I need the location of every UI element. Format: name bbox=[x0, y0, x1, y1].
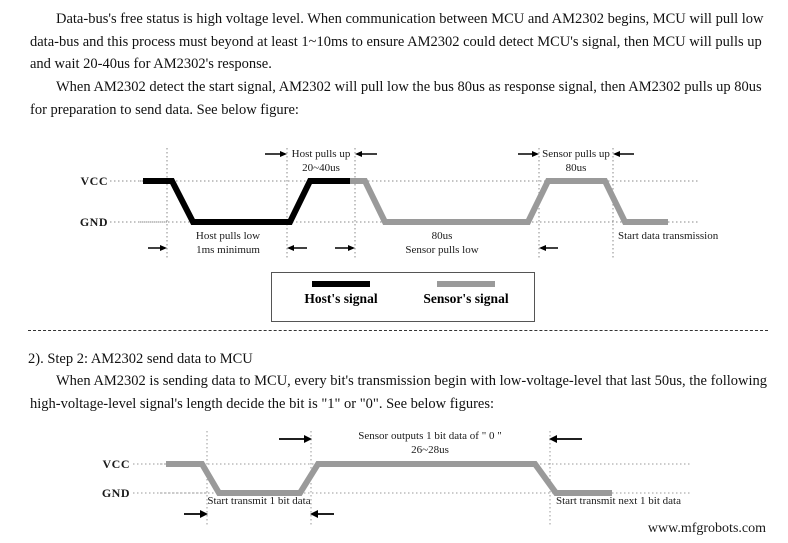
sensor-pulls-low-line2: Sensor pulls low bbox=[405, 244, 478, 256]
site-watermark: www.mfgrobots.com bbox=[648, 521, 766, 537]
paragraph-intro-text: Data-bus's free status is high voltage l… bbox=[30, 11, 764, 72]
sensor-outputs-line2: 26~28us bbox=[411, 444, 449, 456]
sensor-pulls-low-line1: 80us bbox=[432, 230, 453, 242]
annotation-start-transmit-next: Start transmit next 1 bit data bbox=[556, 495, 681, 507]
arrow-head-left bbox=[355, 151, 362, 157]
host-pulls-up-line1: Host pulls up bbox=[292, 148, 351, 160]
gnd-label: GND bbox=[102, 486, 130, 500]
gnd-label: GND bbox=[80, 215, 108, 229]
bit-zero-waveform bbox=[166, 464, 612, 493]
host-signal-waveform bbox=[143, 181, 352, 222]
host-signal-swatch bbox=[312, 281, 370, 287]
sensor-signal-swatch bbox=[437, 281, 495, 287]
annotation-host-pulls-up: Host pulls up 20~40us bbox=[265, 148, 377, 174]
arrow-head-right bbox=[532, 151, 539, 157]
sensor-pulls-up-line1: Sensor pulls up bbox=[542, 148, 610, 160]
figure2-svg: VCC GND Sensor outputs 1 bit data of " 0… bbox=[0, 425, 788, 535]
legend-item-host: Host's signal bbox=[282, 281, 400, 307]
annotation-start-data-transmission: Start data transmission bbox=[618, 230, 719, 242]
annotation-host-pulls-low: Host pulls low 1ms minimum bbox=[148, 230, 307, 256]
start-data-transmission-label: Start data transmission bbox=[618, 230, 719, 242]
sensor-outputs-line1: Sensor outputs 1 bit data of " 0 " bbox=[358, 430, 501, 442]
arrow-head-left bbox=[613, 151, 620, 157]
annotation-host-pullup-end-arrow bbox=[335, 245, 355, 251]
step2-heading: 2). Step 2: AM2302 send data to MCU bbox=[28, 348, 768, 371]
paragraph-step2-body: When AM2302 is sending data to MCU, ever… bbox=[30, 370, 770, 415]
arrow-head-right bbox=[160, 245, 167, 251]
annotation-bit-low-end-arrow bbox=[279, 435, 312, 443]
section-divider bbox=[28, 330, 768, 332]
annotation-sensor-pulls-up: Sensor pulls up 80us bbox=[518, 148, 634, 174]
figure1-svg: VCC GND Host pulls up 20~40us Sensor pul… bbox=[0, 140, 788, 265]
arrow-head-right bbox=[280, 151, 287, 157]
paragraph-intro: Data-bus's free status is high voltage l… bbox=[30, 8, 770, 76]
annotation-sensor-pulls-low: 80us Sensor pulls low bbox=[405, 230, 558, 256]
paragraph-step2-text: When AM2302 is sending data to MCU, ever… bbox=[30, 373, 767, 412]
figure-bit-zero-timing: VCC GND Sensor outputs 1 bit data of " 0… bbox=[0, 425, 788, 535]
vcc-label: VCC bbox=[81, 174, 109, 188]
legend-item-sensor: Sensor's signal bbox=[406, 281, 526, 307]
host-pulls-low-line1: Host pulls low bbox=[196, 230, 260, 242]
figure1-legend: Host's signal Sensor's signal bbox=[271, 272, 535, 322]
start-transmit-next-label: Start transmit next 1 bit data bbox=[556, 495, 681, 507]
host-pulls-low-line2: 1ms minimum bbox=[196, 244, 260, 256]
start-transmit-label: Start transmit 1 bit data bbox=[207, 495, 310, 507]
paragraph-response: When AM2302 detect the start signal, AM2… bbox=[30, 76, 770, 121]
legend-row: Host's signal Sensor's signal bbox=[272, 273, 534, 321]
legend-host-label: Host's signal bbox=[282, 291, 400, 307]
vcc-label: VCC bbox=[103, 457, 131, 471]
paragraph-response-text: When AM2302 detect the start signal, AM2… bbox=[30, 79, 762, 118]
arrow-head-left bbox=[539, 245, 546, 251]
arrow-head-left bbox=[287, 245, 294, 251]
annotation-start-transmit: Start transmit 1 bit data bbox=[184, 495, 334, 518]
sensor-signal-waveform bbox=[350, 181, 668, 222]
annotation-sensor-outputs-bit: Sensor outputs 1 bit data of " 0 " 26~28… bbox=[358, 430, 582, 456]
legend-sensor-label: Sensor's signal bbox=[406, 291, 526, 307]
figure-start-signal-timing: VCC GND Host pulls up 20~40us Sensor pul… bbox=[0, 140, 788, 265]
host-pulls-up-line2: 20~40us bbox=[302, 162, 340, 174]
sensor-pulls-up-line2: 80us bbox=[566, 162, 587, 174]
arrow-head-right bbox=[348, 245, 355, 251]
